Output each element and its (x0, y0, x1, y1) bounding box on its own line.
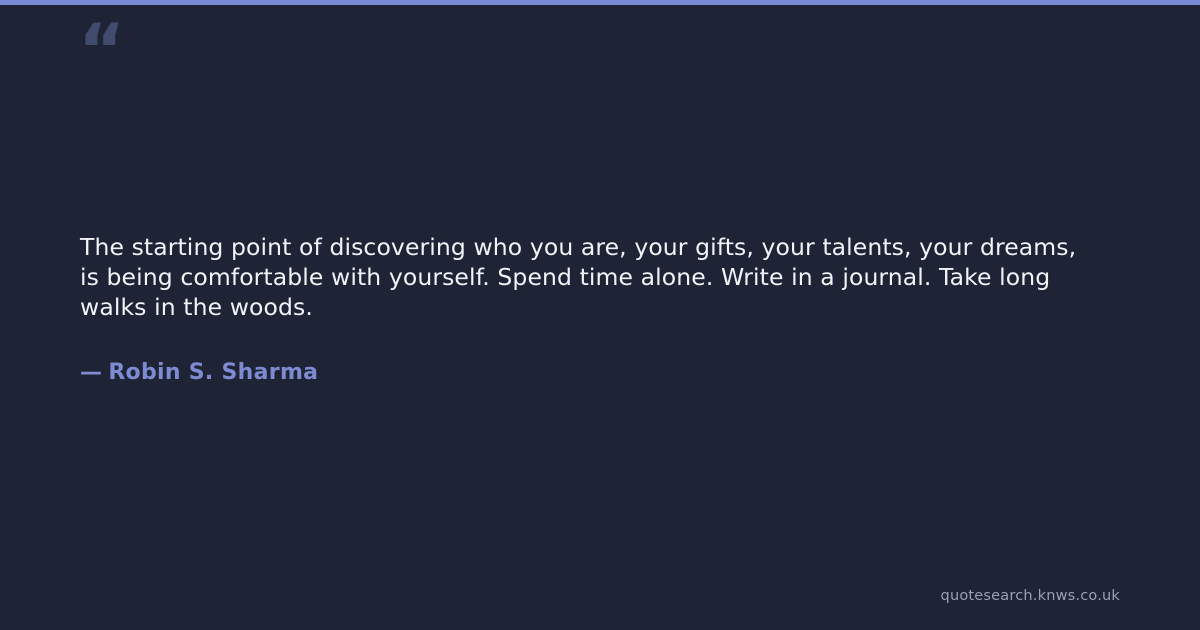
quote-author: Robin S. Sharma (108, 360, 318, 385)
quote-content: The starting point of discovering who yo… (80, 232, 1090, 385)
quotation-mark-icon: “ (78, 14, 124, 86)
quote-card: “ The starting point of discovering who … (0, 0, 1200, 630)
quote-text: The starting point of discovering who yo… (80, 232, 1090, 322)
quote-attribution: —Robin S. Sharma (80, 322, 1090, 385)
site-watermark: quotesearch.knws.co.uk (941, 588, 1120, 604)
top-accent-bar (0, 0, 1200, 5)
attribution-dash: — (80, 360, 102, 385)
